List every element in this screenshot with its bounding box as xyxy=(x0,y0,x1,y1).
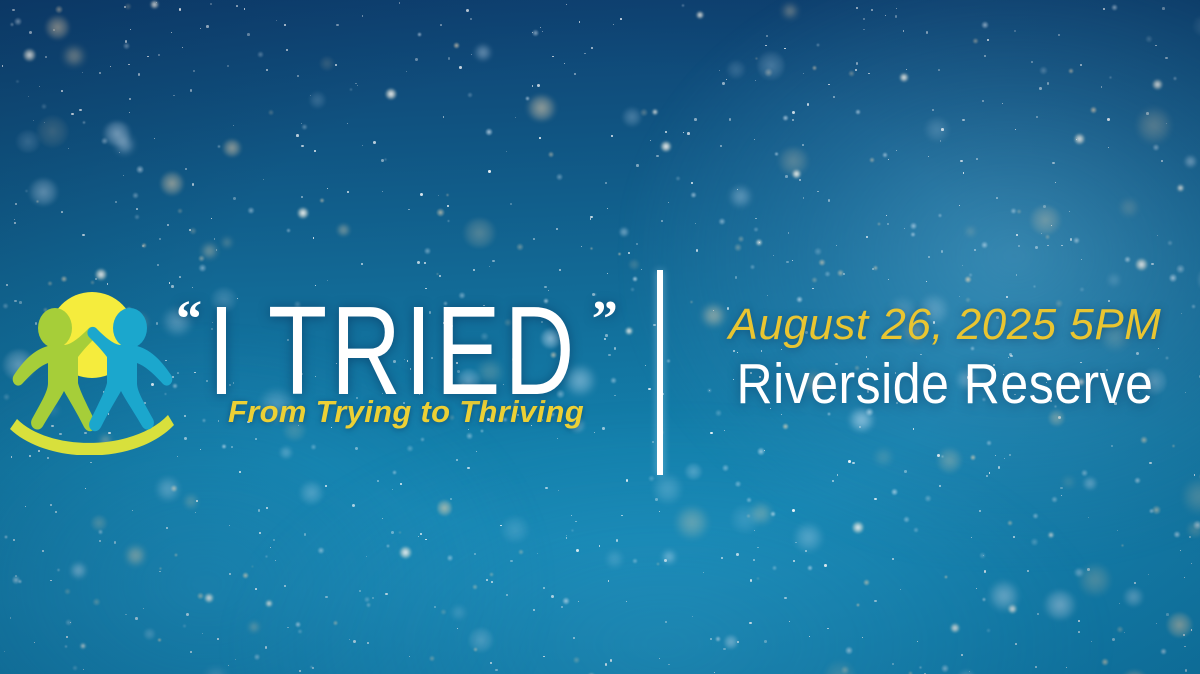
event-details: August 26, 2025 5PM Riverside Reserve xyxy=(700,300,1190,408)
event-date: August 26, 2025 5PM xyxy=(700,300,1190,349)
vertical-divider xyxy=(657,270,663,475)
event-venue: Riverside Reserve xyxy=(700,353,1190,416)
organization-logo xyxy=(8,279,176,455)
open-quote-mark: “ xyxy=(176,294,204,346)
event-title-text: I TRIED xyxy=(208,288,578,414)
close-quote-mark: ” xyxy=(592,294,620,346)
event-banner: “ I TRIED ” From Trying to Thriving Augu… xyxy=(0,0,1200,674)
event-title: “ I TRIED ” xyxy=(176,286,656,386)
banner-content: “ I TRIED ” From Trying to Thriving Augu… xyxy=(0,0,1200,674)
title-block: “ I TRIED ” From Trying to Thriving xyxy=(176,286,656,430)
